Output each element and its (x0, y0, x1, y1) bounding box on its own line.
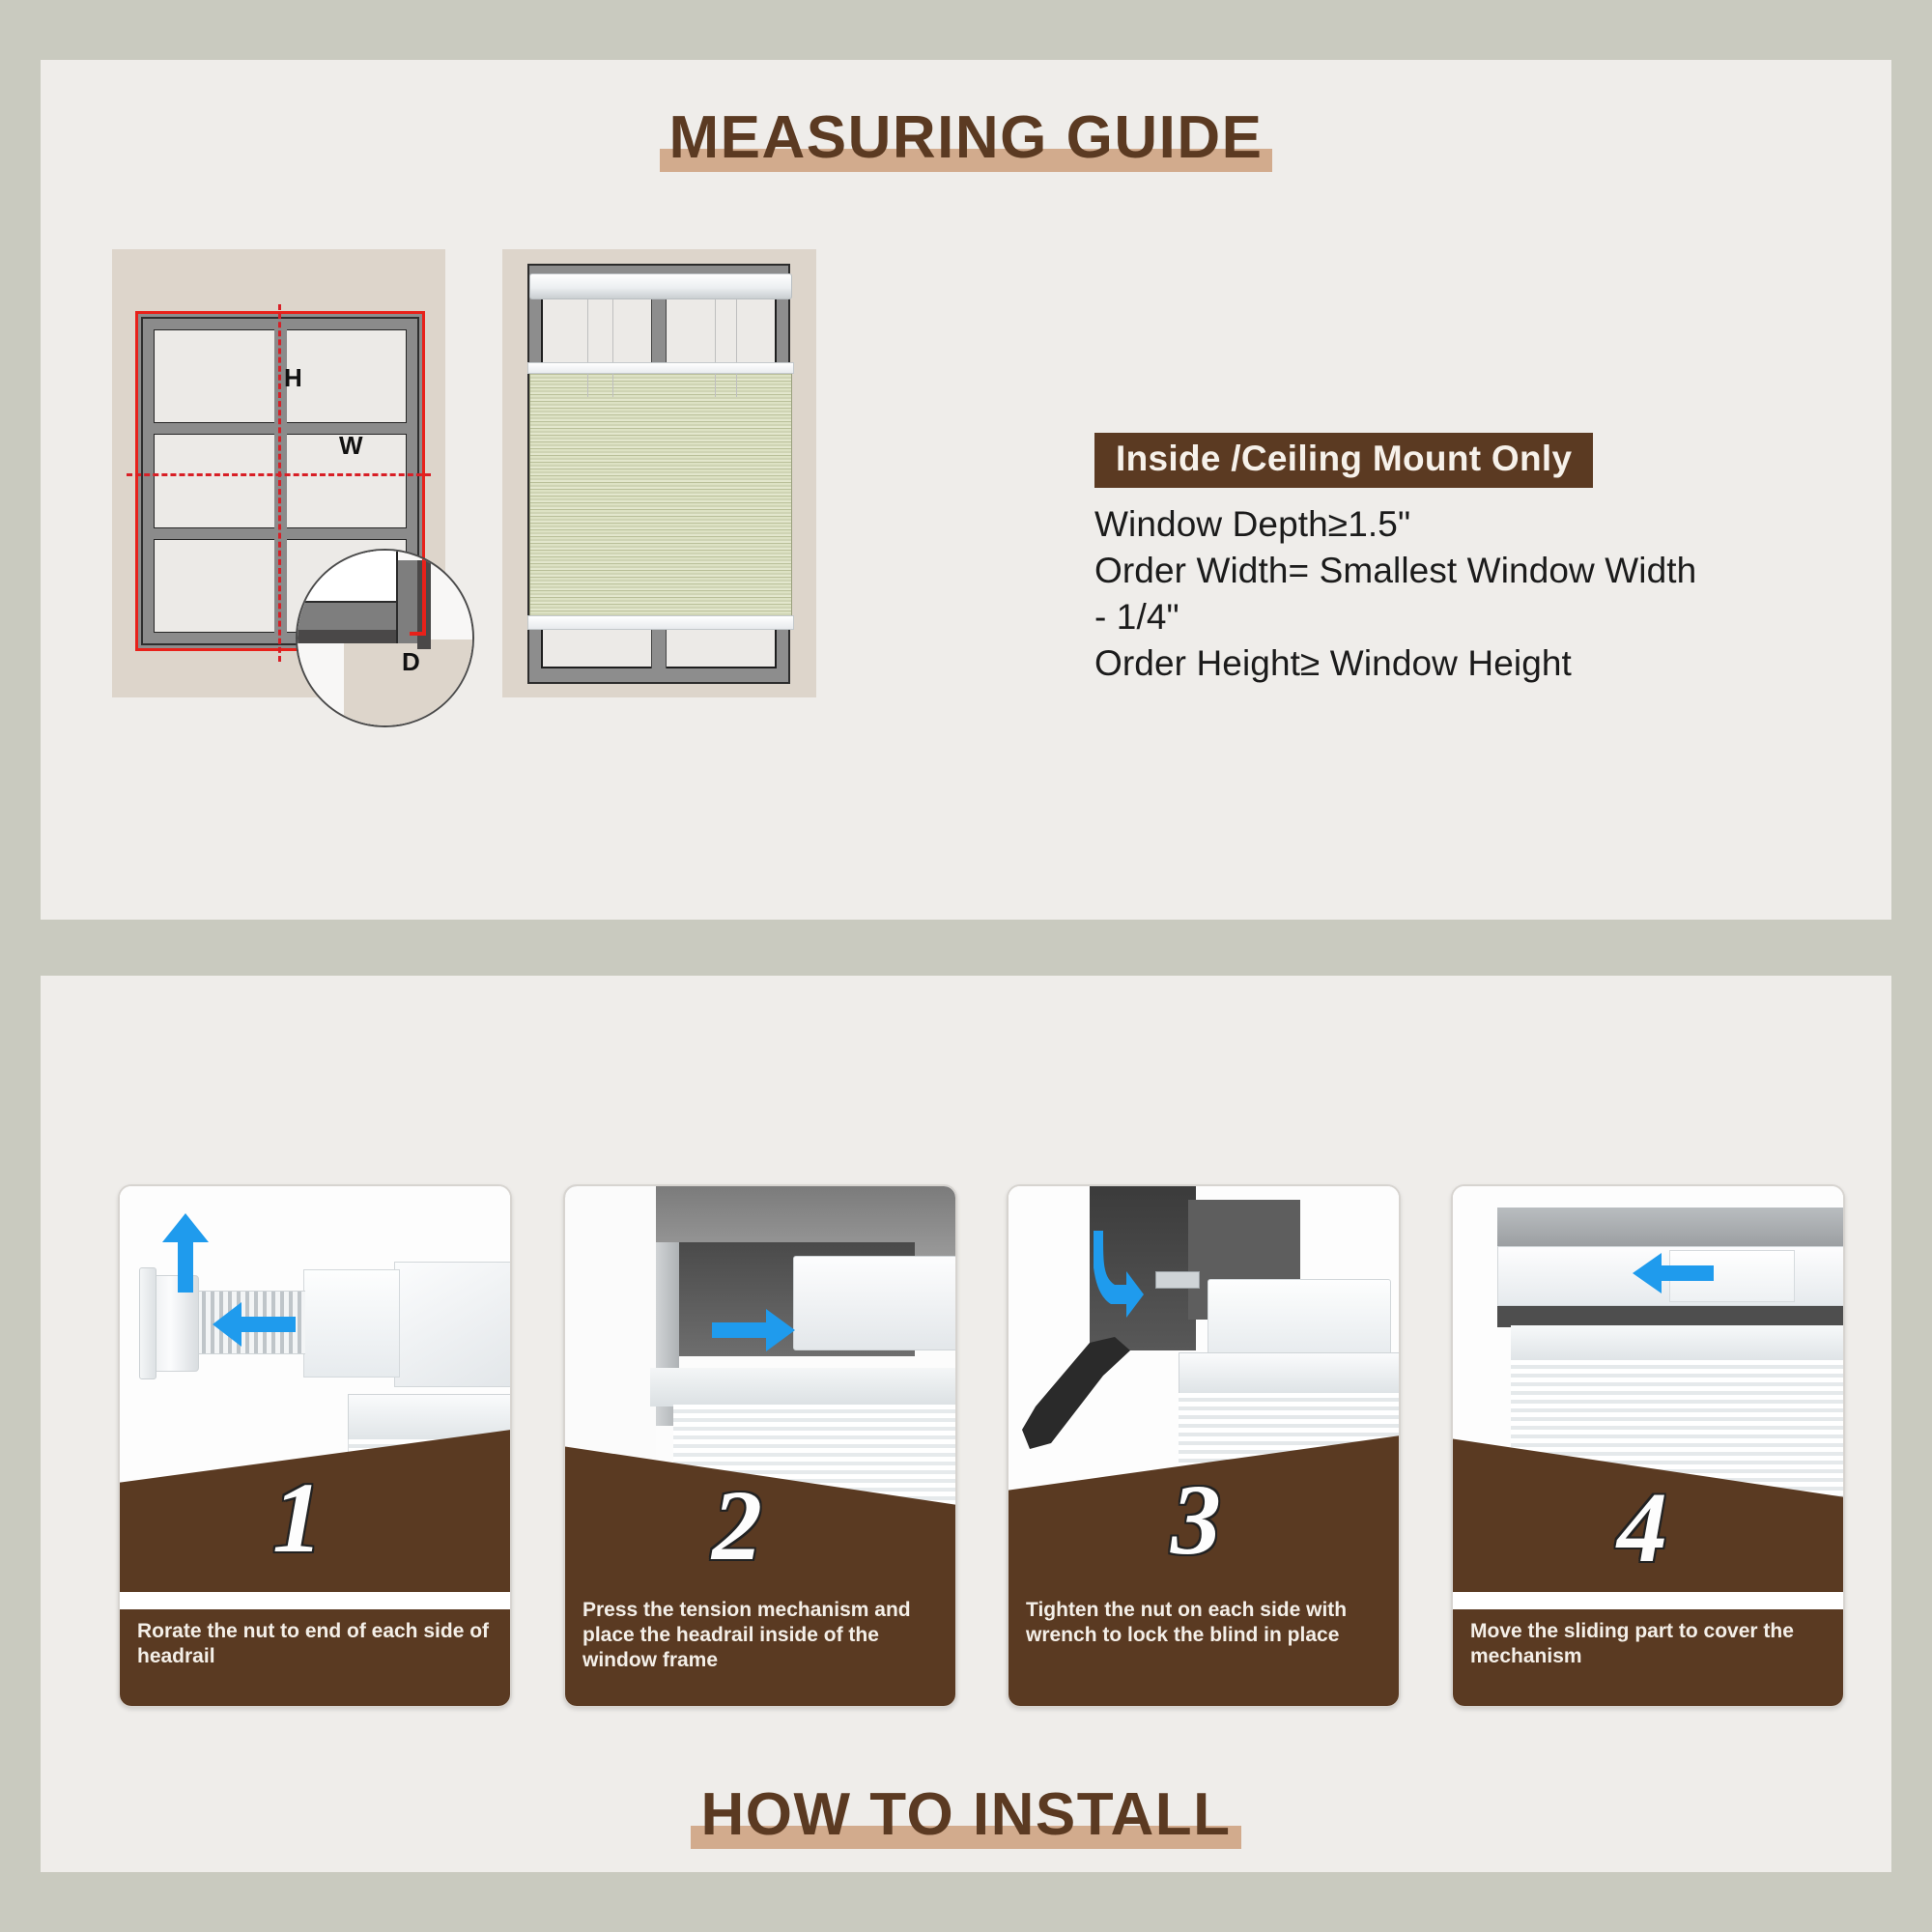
install-step-card: 2 Press the tension mechanism and place … (563, 1184, 957, 1708)
bare-window-diagram: H W D (112, 249, 445, 697)
nut-cap (139, 1267, 156, 1379)
headrail (1207, 1279, 1391, 1360)
step-number: 2 (712, 1476, 762, 1577)
step-caption: Tighten the nut on each side with wrench… (1009, 1588, 1399, 1706)
step-photo: 3 (1009, 1186, 1399, 1592)
spec-lines: Window Depth≥1.5" Order Width= Smallest … (1094, 501, 1858, 687)
shade-top-cap (527, 362, 794, 374)
arrow-up-icon (160, 1213, 211, 1293)
step-photo: 2 (565, 1186, 955, 1592)
cord-line (587, 283, 588, 397)
headrail-front (1511, 1325, 1843, 1362)
install-step-card: 3 Tighten the nut on each side with wren… (1007, 1184, 1401, 1708)
tension-housing (303, 1269, 400, 1378)
installed-shade-diagram (502, 249, 816, 697)
mount-spec-block: Inside /Ceiling Mount Only Window Depth≥… (1094, 433, 1858, 687)
width-label: W (339, 431, 363, 461)
spec-line: Window Depth≥1.5" (1094, 501, 1858, 548)
cord-line (612, 283, 613, 397)
headrail (793, 1256, 955, 1350)
install-step-card: 4 Move the sliding part to cover the mec… (1451, 1184, 1845, 1708)
step-photo: 1 (120, 1186, 510, 1592)
arrow-down-curved-icon (1094, 1231, 1146, 1320)
step-photo: 4 (1453, 1186, 1843, 1592)
headrail-front (650, 1368, 955, 1406)
page-title: MEASURING GUIDE (660, 108, 1273, 174)
shade-headrail (529, 273, 792, 299)
depth-detail-circle: D (296, 549, 474, 727)
headrail-end (394, 1262, 510, 1387)
step-number: 1 (272, 1468, 323, 1569)
height-measure-line (278, 304, 281, 662)
window-pane (286, 329, 408, 423)
status-badge: Inside /Ceiling Mount Only (1094, 433, 1593, 488)
cord-line (715, 283, 716, 397)
cellular-shade-fabric (529, 370, 792, 616)
spec-line: Order Width= Smallest Window Width (1094, 548, 1858, 594)
step-caption: Press the tension mechanism and place th… (565, 1588, 955, 1706)
step-number: 3 (1171, 1470, 1221, 1571)
cord-line (736, 283, 737, 397)
height-label: H (284, 363, 302, 393)
spec-line: Order Height≥ Window Height (1094, 640, 1858, 687)
window-pane (154, 329, 275, 423)
tension-bolt (1155, 1271, 1200, 1289)
install-title-wrap: HOW TO INSTALL (41, 1785, 1891, 1851)
measuring-guide-panel: MEASURING GUIDE H W (41, 60, 1891, 920)
arrow-left-icon (1633, 1252, 1714, 1294)
detail-glass (298, 551, 398, 607)
window-pane (154, 434, 275, 527)
headrail-shadow (1497, 1306, 1843, 1327)
step-caption: Move the sliding part to cover the mecha… (1453, 1609, 1843, 1706)
spec-line: - 1/4" (1094, 594, 1858, 640)
shade-bottom-rail (527, 615, 794, 630)
window-pane (154, 539, 275, 633)
install-title: HOW TO INSTALL (691, 1785, 1240, 1851)
headrail-front (1179, 1352, 1399, 1395)
detail-red-marker-vertical (422, 551, 426, 636)
arrow-right-icon (712, 1308, 795, 1352)
arrow-left-icon (213, 1300, 296, 1349)
width-measure-line (127, 473, 431, 476)
step-caption: Rorate the nut to end of each side of he… (120, 1609, 510, 1706)
detail-red-marker-horizontal (410, 632, 426, 636)
depth-label: D (402, 647, 420, 677)
install-step-card: 1 Rorate the nut to end of each side of … (118, 1184, 512, 1708)
step-number: 4 (1617, 1478, 1667, 1578)
measuring-guide-title-wrap: MEASURING GUIDE (41, 108, 1891, 174)
shade-window-frame (527, 264, 790, 684)
